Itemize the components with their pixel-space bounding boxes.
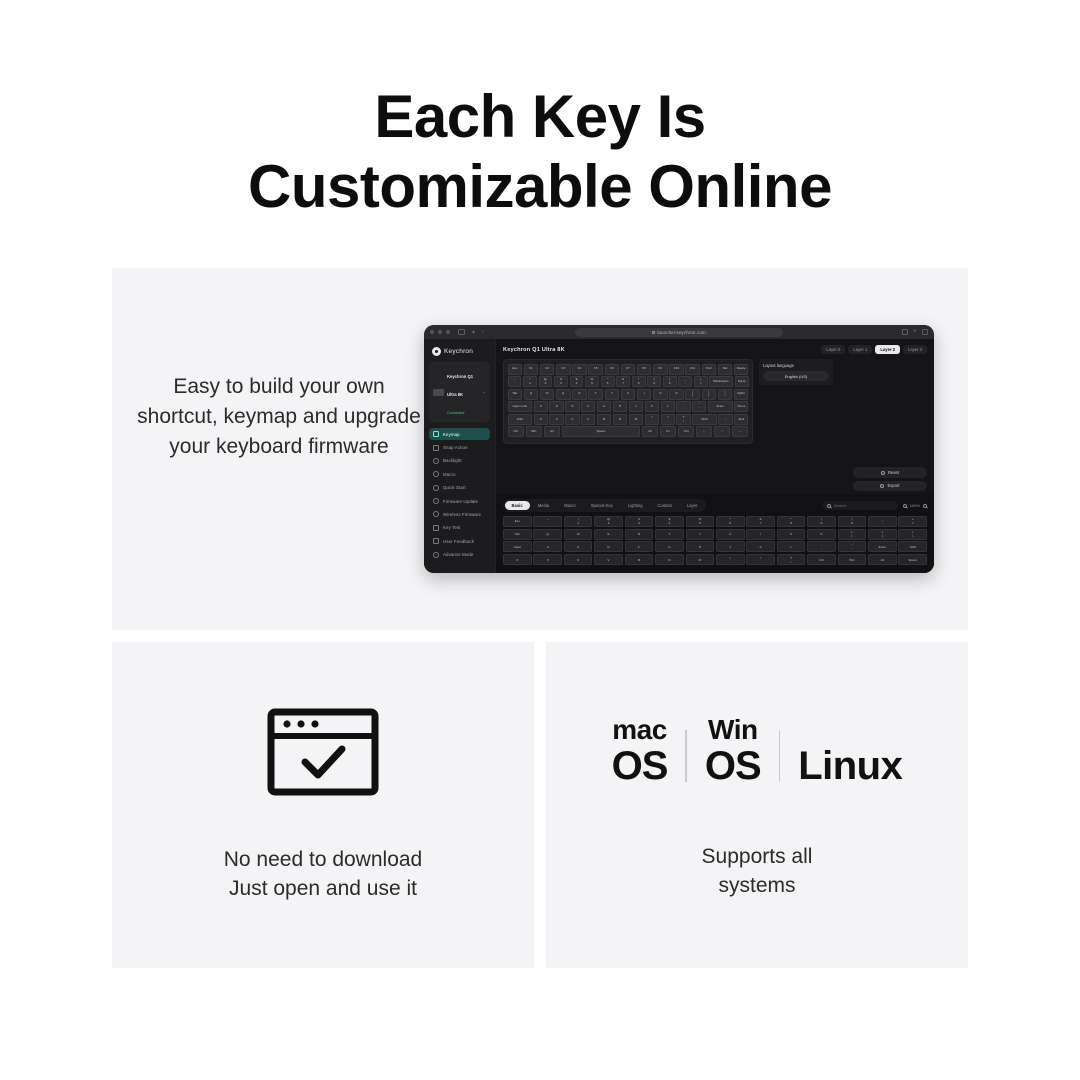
keyboard-key[interactable]: &7 — [616, 376, 630, 387]
zoom-controls: 100% — [903, 503, 927, 508]
palette-key[interactable]: <, — [716, 554, 745, 565]
keyboard-key[interactable]: :; — [676, 401, 690, 412]
keyboard-key[interactable]: U — [621, 389, 636, 400]
sidebar-item-backlight[interactable]: Backlight — [429, 455, 490, 467]
keyboard-key[interactable]: Shift — [508, 414, 533, 425]
browser-window-mock: ▾ ‹ launcher.keychron.com + Key — [424, 325, 934, 573]
layer-tab-1[interactable]: Layer 1 — [848, 345, 872, 354]
main-title: Keychron Q1 Ultra 8K — [503, 347, 565, 353]
sidebar-item-wireless-firmware[interactable]: Wireless Firmware — [429, 508, 490, 520]
quick-start-icon — [433, 485, 439, 491]
key-palette: Basic Media Macro Special Key Lighting C… — [496, 494, 934, 573]
chevron-down-icon[interactable]: ▾ — [472, 329, 475, 336]
keyboard-key[interactable]: |\ — [718, 389, 733, 400]
share-icon[interactable] — [902, 329, 908, 335]
main-header: Keychron Q1 Ultra 8K Layer 0 Layer 1 Lay… — [503, 345, 927, 354]
keyboard-key[interactable]: F10 — [669, 364, 684, 375]
device-meta: Keychron Q1 Ultra 8K Connected — [447, 365, 479, 419]
palette-key[interactable]: Caps — [503, 541, 532, 552]
keyboard-key[interactable]: B — [597, 414, 611, 425]
palette-row: TabQWERTYUIOP{[}]|\ — [503, 529, 927, 540]
keyboard-key[interactable]: *8 — [632, 376, 646, 387]
layout-language-label: Layout language — [763, 363, 829, 368]
user-feedback-icon — [433, 538, 439, 544]
caption-line-2: Just open and use it — [224, 874, 423, 903]
zoom-in-icon[interactable] — [923, 504, 927, 508]
snap-action-icon — [433, 445, 439, 451]
keyboard-key[interactable]: T — [588, 389, 603, 400]
keyboard-key[interactable]: R — [572, 389, 587, 400]
palette-key[interactable]: Esc — [503, 516, 532, 527]
backlight-icon — [433, 458, 439, 464]
search-placeholder: Search — [834, 503, 847, 508]
zoom-out-icon[interactable] — [903, 504, 907, 508]
keyboard-key[interactable]: F11 — [685, 364, 700, 375]
tab-basic[interactable]: Basic — [505, 501, 530, 510]
keyboard-key[interactable]: J — [629, 401, 643, 412]
palette-key[interactable]: Q — [533, 529, 562, 540]
palette-key[interactable]: ?/ — [777, 554, 806, 565]
keyboard-key[interactable]: }] — [702, 389, 717, 400]
keyboard-area: EscF1F2F3F4F5F6F7F8F9F10F11F12DelDelete~… — [503, 359, 927, 444]
keyboard-key[interactable]: F1 — [524, 364, 539, 375]
keyboard-key[interactable]: Ctrl — [678, 426, 694, 437]
keyboard-map[interactable]: EscF1F2F3F4F5F6F7F8F9F10F11F12DelDelete~… — [503, 359, 753, 444]
palette-key[interactable]: "' — [838, 541, 867, 552]
palette-tools: Search 100% — [822, 501, 927, 510]
palette-key[interactable]: Shift — [898, 541, 927, 552]
tab-lighting[interactable]: Lighting — [621, 501, 650, 510]
palette-key[interactable]: ^6 — [716, 516, 745, 527]
keyboard-row: ~`!1@2#3$4%5^6&7*8(9)0_-+=BackspacePgUp — [508, 376, 749, 387]
palette-key[interactable]: _- — [868, 516, 897, 527]
macos-top: mac — [612, 716, 667, 744]
minimize-icon[interactable] — [438, 330, 442, 334]
sidebar-item-label: Backlight — [443, 458, 462, 463]
keyboard-key[interactable]: Alt — [544, 426, 560, 437]
palette-key[interactable]: F — [625, 541, 654, 552]
keyboard-key[interactable]: Space — [562, 426, 641, 437]
keyboard-key[interactable]: I — [637, 389, 652, 400]
zoom-level: 100% — [910, 503, 920, 508]
supported-systems-card: mac OS Win OS Linux Supports all systems — [546, 642, 968, 968]
palette-key[interactable]: Tab — [503, 529, 532, 540]
maximize-icon[interactable] — [446, 330, 450, 334]
palette-key[interactable]: Ctrl — [807, 554, 836, 565]
keyboard-key[interactable]: Del — [718, 364, 733, 375]
app-body: Keychron Keychron Q1 Ultra 8K Connected … — [424, 339, 934, 573]
palette-key[interactable]: >. — [746, 554, 775, 565]
keyboard-key[interactable]: W — [540, 389, 555, 400]
palette-key[interactable]: *8 — [777, 516, 806, 527]
keyboard-key[interactable]: F6 — [605, 364, 620, 375]
macos-logo: mac OS — [612, 716, 668, 786]
macro-icon — [433, 471, 439, 477]
palette-key[interactable]: &7 — [746, 516, 775, 527]
palette-grid[interactable]: Esc~`!1@2#3$4%5^6&7*8(9)0_-+=TabQWERTYUI… — [503, 516, 927, 565]
layer-tab-3[interactable]: Layer 3 — [903, 345, 927, 354]
hero-description: Easy to build your own shortcut, keymap … — [134, 372, 424, 462]
no-download-caption: No need to download Just open and use it — [224, 845, 423, 903]
palette-key[interactable]: %5 — [686, 516, 715, 527]
tab-layer[interactable]: Layer — [680, 501, 704, 510]
keyboard-key[interactable]: #3 — [554, 376, 568, 387]
keyboard-key[interactable]: Y — [605, 389, 620, 400]
plus-icon[interactable]: + — [913, 329, 917, 335]
winos-logo: Win OS — [705, 716, 761, 786]
keyboard-key[interactable]: F12 — [702, 364, 717, 375]
keyboard-key[interactable]: Home — [734, 401, 748, 412]
palette-key[interactable]: }] — [868, 529, 897, 540]
sidebar-item-firmware-update[interactable]: Firmware Update — [429, 495, 490, 507]
keyboard-key[interactable]: X — [549, 414, 563, 425]
palette-key[interactable]: G — [655, 541, 684, 552]
sidebar-item-advance-mode[interactable]: Advance Mode — [429, 548, 490, 560]
palette-key[interactable]: Win — [838, 554, 867, 565]
tab-media[interactable]: Media — [531, 501, 556, 510]
sidebar-item-snap-action[interactable]: Snap Action — [429, 441, 490, 453]
sidebar-item-user-feedback[interactable]: User Feedback — [429, 535, 490, 547]
keymap-icon — [433, 431, 439, 437]
sidebar-item-label: Advance Mode — [443, 552, 474, 557]
keyboard-key[interactable]: → — [732, 426, 748, 437]
keyboard-key[interactable]: Backspace — [709, 376, 733, 387]
keyboard-key[interactable]: A — [534, 401, 548, 412]
keyboard-key[interactable]: Q — [524, 389, 539, 400]
sidebar-item-quick-start[interactable]: Quick Start — [429, 482, 490, 494]
keyboard-key[interactable]: E — [556, 389, 571, 400]
linux-label: Linux — [798, 746, 902, 786]
palette-key[interactable]: K — [746, 541, 775, 552]
palette-key[interactable]: Z — [503, 554, 532, 565]
caption-line-2: systems — [702, 871, 813, 900]
close-icon[interactable] — [430, 330, 434, 334]
keyboard-row: EscF1F2F3F4F5F6F7F8F9F10F11F12DelDelete — [508, 364, 749, 375]
browser-toolbar: ▾ ‹ launcher.keychron.com + — [424, 325, 934, 339]
tab-macro[interactable]: Macro — [557, 501, 583, 510]
palette-key[interactable]: W — [564, 529, 593, 540]
divider — [779, 730, 781, 782]
layer-tabs: Layer 0 Layer 1 Layer 2 Layer 3 — [821, 345, 927, 354]
palette-key[interactable]: A — [533, 541, 562, 552]
palette-key[interactable]: P — [807, 529, 836, 540]
palette-key[interactable]: #3 — [625, 516, 654, 527]
sidebar-item-label: Key Test — [443, 525, 461, 530]
firmware-update-icon — [433, 498, 439, 504]
layout-panel: Layout language English (US) — [759, 359, 833, 444]
page-title: Each Key Is Customizable Online — [0, 82, 1080, 222]
supported-systems-caption: Supports all systems — [702, 842, 813, 900]
keyboard-key[interactable]: Shift — [692, 414, 717, 425]
keyboard-key[interactable]: V — [581, 414, 595, 425]
keyboard-row: ShiftZXCVBNM<,>.?/Shift↑End — [508, 414, 749, 425]
sidebar-item-label: Wireless Firmware — [443, 512, 481, 517]
keyboard-key[interactable]: F7 — [621, 364, 636, 375]
keychron-logo-icon — [432, 347, 441, 356]
advance-mode-icon — [433, 552, 439, 558]
keyboard-key[interactable]: ~` — [508, 376, 522, 387]
keyboard-key[interactable]: P — [669, 389, 684, 400]
layer-tab-0[interactable]: Layer 0 — [821, 345, 845, 354]
keyboard-key[interactable]: Tab — [508, 389, 523, 400]
device-name: Keychron Q1 Ultra 8K — [447, 374, 473, 397]
sidebar-item-label: Quick Start — [443, 485, 466, 490]
palette-key[interactable]: |\ — [898, 529, 927, 540]
palette-key[interactable]: $4 — [655, 516, 684, 527]
brand-logo: Keychron — [429, 345, 490, 362]
keyboard-key[interactable]: M — [629, 414, 643, 425]
address-bar-url: launcher.keychron.com — [657, 330, 705, 335]
keyboard-key[interactable]: += — [694, 376, 708, 387]
keyboard-key[interactable]: Delete — [734, 364, 749, 375]
keyboard-key[interactable]: ^6 — [601, 376, 615, 387]
search-icon — [827, 504, 831, 508]
linux-logo: Linux — [798, 746, 902, 786]
sidebar-item-label: Macro — [443, 472, 456, 477]
keyboard-key[interactable]: !1 — [523, 376, 537, 387]
palette-key[interactable]: Enter — [868, 541, 897, 552]
hero-card: Easy to build your own shortcut, keymap … — [112, 268, 968, 630]
palette-key[interactable]: L — [777, 541, 806, 552]
sidebar-item-label: Snap Action — [443, 445, 468, 450]
palette-header: Basic Media Macro Special Key Lighting C… — [503, 499, 927, 511]
keyboard-key[interactable]: (9 — [647, 376, 661, 387]
winos-top: Win — [708, 716, 758, 744]
keyboard-key[interactable]: ↑ — [718, 414, 732, 425]
keyboard-key[interactable]: Fn — [660, 426, 676, 437]
caption-line-1: Supports all — [702, 842, 813, 871]
device-thumbnail-icon — [433, 389, 444, 396]
device-selector[interactable]: Keychron Q1 Ultra 8K Connected ⌄ — [429, 362, 490, 422]
palette-key[interactable]: E — [594, 529, 623, 540]
palette-row: ZXCVBNM<,>.?/CtrlWinAltSpace — [503, 554, 927, 565]
palette-key[interactable]: (9 — [807, 516, 836, 527]
palette-key[interactable]: {[ — [838, 529, 867, 540]
keyboard-key[interactable]: F9 — [653, 364, 668, 375]
layer-tab-2[interactable]: Layer 2 — [875, 345, 900, 354]
tab-special-key[interactable]: Special Key — [584, 501, 620, 510]
palette-key[interactable]: D — [594, 541, 623, 552]
macos-bottom: OS — [612, 746, 668, 786]
palette-row: CapsASDFGHJKL:;"'EnterShift — [503, 541, 927, 552]
keyboard-key[interactable]: S — [549, 401, 563, 412]
palette-key[interactable]: I — [746, 529, 775, 540]
palette-key[interactable]: @2 — [594, 516, 623, 527]
keyboard-key[interactable]: K — [645, 401, 659, 412]
key-test-icon — [433, 525, 439, 531]
keyboard-key[interactable]: Caps Lock — [508, 401, 533, 412]
keyboard-key[interactable]: PgUp — [735, 376, 749, 387]
wireless-firmware-icon — [433, 511, 439, 517]
keyboard-key[interactable]: {[ — [685, 389, 700, 400]
sidebar-item-key-test[interactable]: Key Test — [429, 522, 490, 534]
headline-line-2: Customizable Online — [0, 152, 1080, 222]
keyboard-key[interactable]: F5 — [588, 364, 603, 375]
palette-key[interactable]: :; — [807, 541, 836, 552]
keyboard-row: Caps LockASDFGHJKL:;"'EnterHome — [508, 401, 749, 412]
keyboard-key[interactable]: Ctrl — [508, 426, 524, 437]
keyboard-key[interactable]: Win — [526, 426, 542, 437]
keyboard-key[interactable]: F4 — [572, 364, 587, 375]
promo-page: Each Key Is Customizable Online Easy to … — [0, 0, 1080, 1080]
palette-key[interactable]: X — [533, 554, 562, 565]
no-download-card: No need to download Just open and use it — [112, 642, 534, 968]
keyboard-key[interactable]: F3 — [556, 364, 571, 375]
keyboard-row: CtrlWinAltSpaceAltFnCtrl←↓→ — [508, 426, 749, 437]
keyboard-key[interactable]: Esc — [508, 364, 523, 375]
divider — [685, 730, 687, 782]
keyboard-key[interactable]: )0 — [663, 376, 677, 387]
keyboard-key[interactable]: L — [661, 401, 675, 412]
reset-button[interactable]: Reset — [853, 467, 927, 477]
browser-check-icon — [267, 708, 379, 801]
palette-key[interactable]: M — [686, 554, 715, 565]
keyboard-key[interactable]: F8 — [637, 364, 652, 375]
export-button[interactable]: Export — [853, 481, 927, 491]
sidebar-item-macro[interactable]: Macro — [429, 468, 490, 480]
lock-icon — [652, 331, 655, 334]
palette-key[interactable]: S — [564, 541, 593, 552]
palette-row: Esc~`!1@2#3$4%5^6&7*8(9)0_-+= — [503, 516, 927, 527]
keyboard-key[interactable]: >. — [661, 414, 675, 425]
palette-key[interactable]: B — [625, 554, 654, 565]
browser-toolbar-right: + — [902, 329, 928, 335]
chevron-down-icon[interactable]: ⌄ — [482, 389, 486, 395]
keyboard-key[interactable]: $4 — [570, 376, 584, 387]
sidebar-item-label: Keymap — [443, 432, 460, 437]
search-input[interactable]: Search — [822, 501, 898, 510]
keyboard-key[interactable]: N — [613, 414, 627, 425]
keyboard-key[interactable]: Alt — [642, 426, 658, 437]
palette-key[interactable]: Y — [686, 529, 715, 540]
palette-key[interactable]: N — [655, 554, 684, 565]
palette-key[interactable]: J — [716, 541, 745, 552]
device-status: Connected — [447, 411, 464, 415]
back-chevron-icon[interactable]: ‹ — [482, 329, 484, 335]
sidebar-item-keymap[interactable]: Keymap — [429, 428, 490, 440]
layout-language-select[interactable]: English (US) — [763, 371, 829, 381]
keyboard-key[interactable]: Enter — [708, 401, 733, 412]
headline-line-1: Each Key Is — [374, 83, 705, 150]
reset-label: Reset — [888, 470, 899, 475]
tab-overview-icon[interactable] — [922, 329, 928, 335]
keyboard-key[interactable]: ← — [696, 426, 712, 437]
keyboard-key[interactable]: D — [565, 401, 579, 412]
reset-icon — [881, 471, 885, 475]
palette-key[interactable]: O — [777, 529, 806, 540]
palette-key[interactable]: C — [564, 554, 593, 565]
keyboard-key[interactable]: G — [597, 401, 611, 412]
sidebar-spacer — [429, 562, 490, 573]
palette-key[interactable]: R — [625, 529, 654, 540]
os-logos: mac OS Win OS Linux — [612, 716, 903, 786]
palette-key[interactable]: H — [686, 541, 715, 552]
keyboard-row: TabQWERTYUIOP{[}]|\PgDn — [508, 389, 749, 400]
palette-key[interactable]: += — [898, 516, 927, 527]
sidebar-item-label: User Feedback — [443, 539, 474, 544]
keyboard-key[interactable]: "' — [692, 401, 706, 412]
keyboard-key[interactable]: PgDn — [734, 389, 749, 400]
export-label: Export — [887, 483, 899, 488]
keyboard-key[interactable]: ↓ — [714, 426, 730, 437]
winos-bottom: OS — [705, 746, 761, 786]
tab-custom[interactable]: Custom — [651, 501, 679, 510]
keyboard-key[interactable]: H — [613, 401, 627, 412]
brand-name: Keychron — [444, 348, 473, 355]
palette-key[interactable]: )0 — [838, 516, 867, 527]
address-bar[interactable]: launcher.keychron.com — [575, 328, 783, 337]
keyboard-key[interactable]: <, — [645, 414, 659, 425]
palette-key[interactable]: T — [655, 529, 684, 540]
keyboard-key[interactable]: @2 — [539, 376, 553, 387]
keyboard-key[interactable]: ?/ — [676, 414, 690, 425]
keyboard-key[interactable]: F — [581, 401, 595, 412]
palette-key[interactable]: !1 — [564, 516, 593, 527]
keyboard-key[interactable]: C — [565, 414, 579, 425]
palette-key[interactable]: Space — [898, 554, 927, 565]
palette-key[interactable]: V — [594, 554, 623, 565]
keyboard-key[interactable]: _- — [678, 376, 692, 387]
export-icon — [880, 484, 884, 488]
palette-key[interactable]: ~` — [533, 516, 562, 527]
keyboard-key[interactable]: F2 — [540, 364, 555, 375]
palette-key[interactable]: U — [716, 529, 745, 540]
palette-tabs: Basic Media Macro Special Key Lighting C… — [503, 499, 706, 511]
palette-key[interactable]: Alt — [868, 554, 897, 565]
sidebar-toggle-icon[interactable] — [458, 329, 465, 335]
layout-language-card: Layout language English (US) — [759, 359, 833, 385]
keyboard-key[interactable]: O — [653, 389, 668, 400]
app-main: Keychron Q1 Ultra 8K Layer 0 Layer 1 Lay… — [496, 339, 934, 573]
sidebar-item-label: Firmware Update — [443, 499, 478, 504]
keyboard-key[interactable]: End — [734, 414, 748, 425]
keyboard-key[interactable]: %5 — [585, 376, 599, 387]
caption-line-1: No need to download — [224, 845, 423, 874]
keyboard-key[interactable]: Z — [534, 414, 548, 425]
app-sidebar: Keychron Keychron Q1 Ultra 8K Connected … — [424, 339, 496, 573]
